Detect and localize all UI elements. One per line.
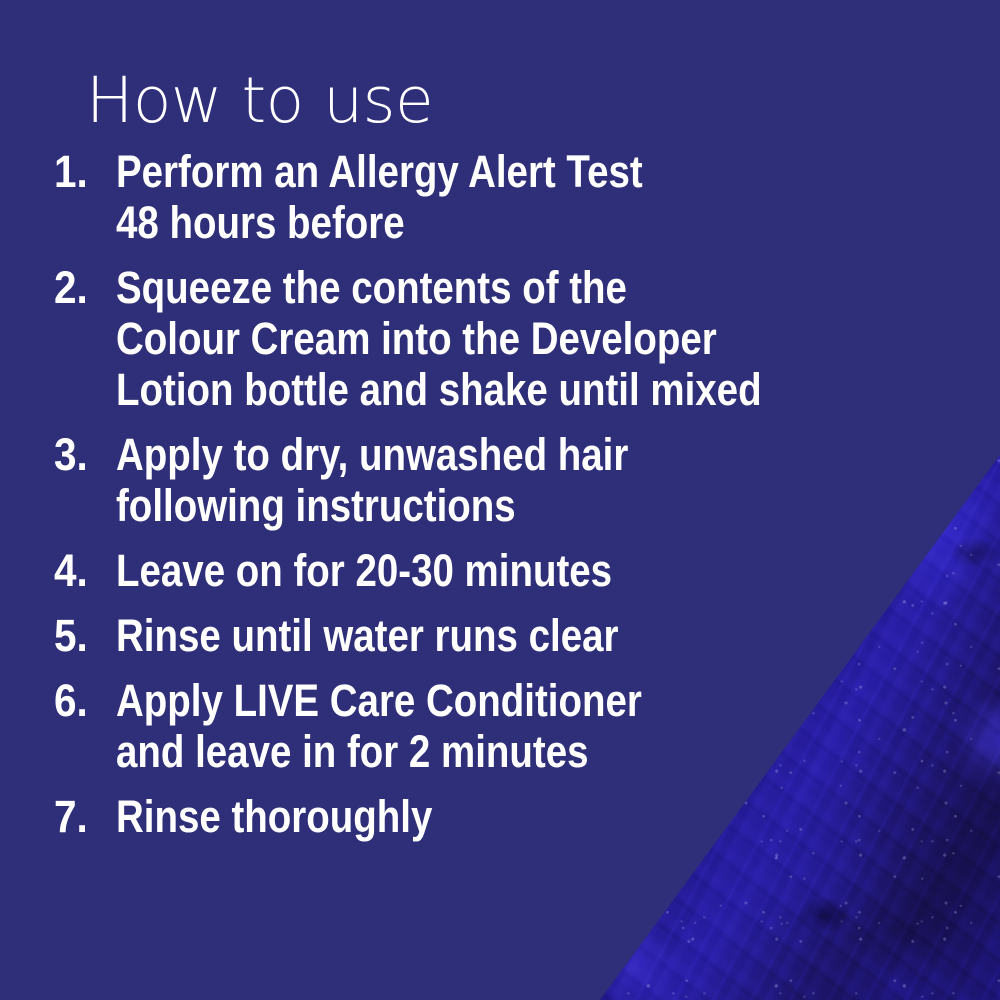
- step-number: 2.: [54, 262, 110, 313]
- step-number: 5.: [54, 610, 110, 661]
- list-item: 3. Apply to dry, unwashed hair following…: [54, 429, 954, 531]
- list-item: 6. Apply LIVE Care Conditioner and leave…: [54, 675, 954, 777]
- step-number: 1.: [54, 146, 110, 197]
- how-to-use-poster: How to use 1. Perform an Allergy Alert T…: [0, 0, 1000, 1000]
- step-number: 6.: [54, 675, 110, 726]
- step-text: Leave on for 20-30 minutes: [116, 545, 832, 596]
- step-text: Perform an Allergy Alert Test 48 hours b…: [116, 146, 832, 248]
- step-number: 3.: [54, 429, 110, 480]
- list-item: 2. Squeeze the contents of the Colour Cr…: [54, 262, 954, 415]
- list-item: 4. Leave on for 20-30 minutes: [54, 545, 954, 596]
- steps-list: 1. Perform an Allergy Alert Test 48 hour…: [54, 146, 954, 856]
- step-text: Squeeze the contents of the Colour Cream…: [116, 262, 832, 415]
- list-item: 1. Perform an Allergy Alert Test 48 hour…: [54, 146, 954, 248]
- list-item: 7. Rinse thoroughly: [54, 791, 954, 842]
- step-number: 7.: [54, 791, 110, 842]
- step-text: Rinse thoroughly: [116, 791, 832, 842]
- step-number: 4.: [54, 545, 110, 596]
- list-item: 5. Rinse until water runs clear: [54, 610, 954, 661]
- step-text: Rinse until water runs clear: [116, 610, 832, 661]
- step-text: Apply LIVE Care Conditioner and leave in…: [116, 675, 832, 777]
- page-title: How to use: [86, 68, 433, 134]
- step-text: Apply to dry, unwashed hair following in…: [116, 429, 832, 531]
